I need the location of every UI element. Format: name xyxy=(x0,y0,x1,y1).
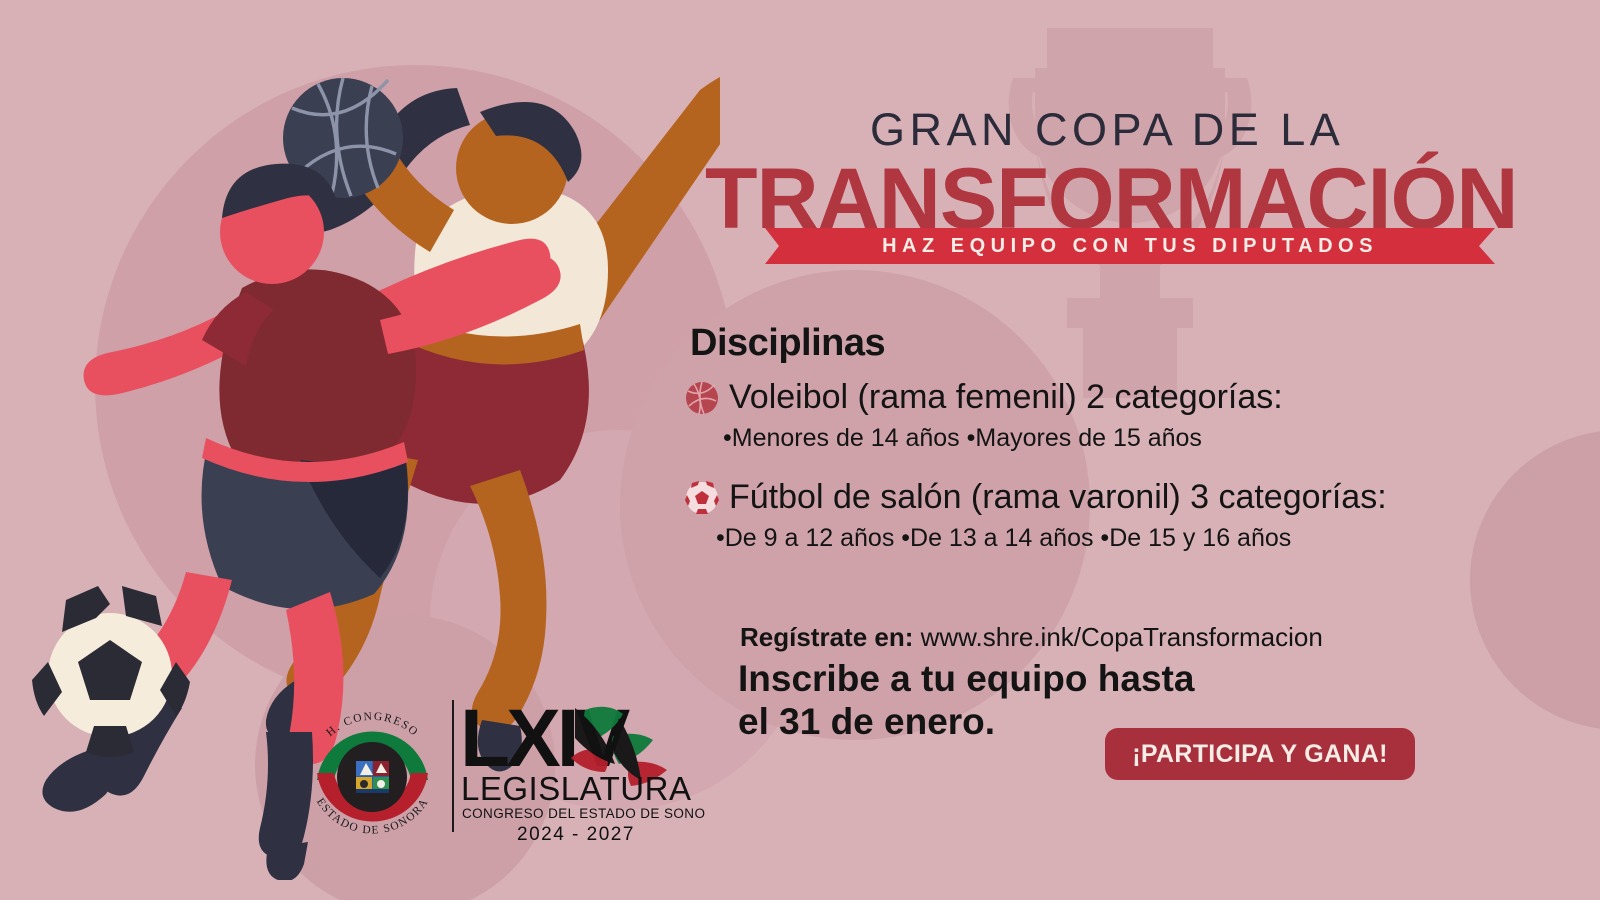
disciplines-heading: Disciplinas xyxy=(690,322,885,365)
discipline-futsal-title: Fútbol de salón (rama varonil) 3 categor… xyxy=(729,478,1387,517)
deadline-line-1: Inscribe a tu equipo hasta xyxy=(738,658,1194,701)
discipline-futsal: Fútbol de salón (rama varonil) 3 categor… xyxy=(685,478,1387,517)
legislature-years-text: 2024 - 2027 xyxy=(517,824,635,843)
volleyball-icon xyxy=(685,381,719,415)
congress-seal-logo: H. CONGRESO ESTADO DE SONORA xyxy=(290,685,455,850)
discipline-volleyball-title: Voleibol (rama femenil) 2 categorías: xyxy=(729,378,1283,417)
logo-divider xyxy=(452,700,454,832)
soccer-ball-icon xyxy=(685,481,719,515)
poster-root: GRAN COPA DE LA TRANSFORMACIÓN HAZ EQUIP… xyxy=(0,0,1600,900)
registration-label: Regístrate en: xyxy=(740,622,913,652)
legislature-logo: LXIV LEGISLATURA CONGRESO DEL ESTADO DE … xyxy=(455,688,705,843)
registration-url[interactable]: www.shre.ink/CopaTransformacion xyxy=(921,622,1323,652)
participate-button[interactable]: ¡PARTICIPA Y GANA! xyxy=(1105,728,1415,780)
tagline-text: HAZ EQUIPO CON TUS DIPUTADOS xyxy=(765,228,1495,264)
legislature-sub-text: CONGRESO DEL ESTADO DE SONORA xyxy=(462,806,705,821)
discipline-futsal-categories: •De 9 a 12 años •De 13 a 14 años •De 15 … xyxy=(716,524,1291,553)
registration-line: Regístrate en: www.shre.ink/CopaTransfor… xyxy=(740,622,1323,653)
content-column: GRAN COPA DE LA TRANSFORMACIÓN HAZ EQUIP… xyxy=(680,0,1600,900)
discipline-volleyball-categories: •Menores de 14 años •Mayores de 15 años xyxy=(723,424,1202,453)
discipline-volleyball: Voleibol (rama femenil) 2 categorías: xyxy=(685,378,1283,417)
kicker-text: GRAN COPA DE LA xyxy=(870,104,1344,156)
legislature-word-text: LEGISLATURA xyxy=(461,770,691,807)
